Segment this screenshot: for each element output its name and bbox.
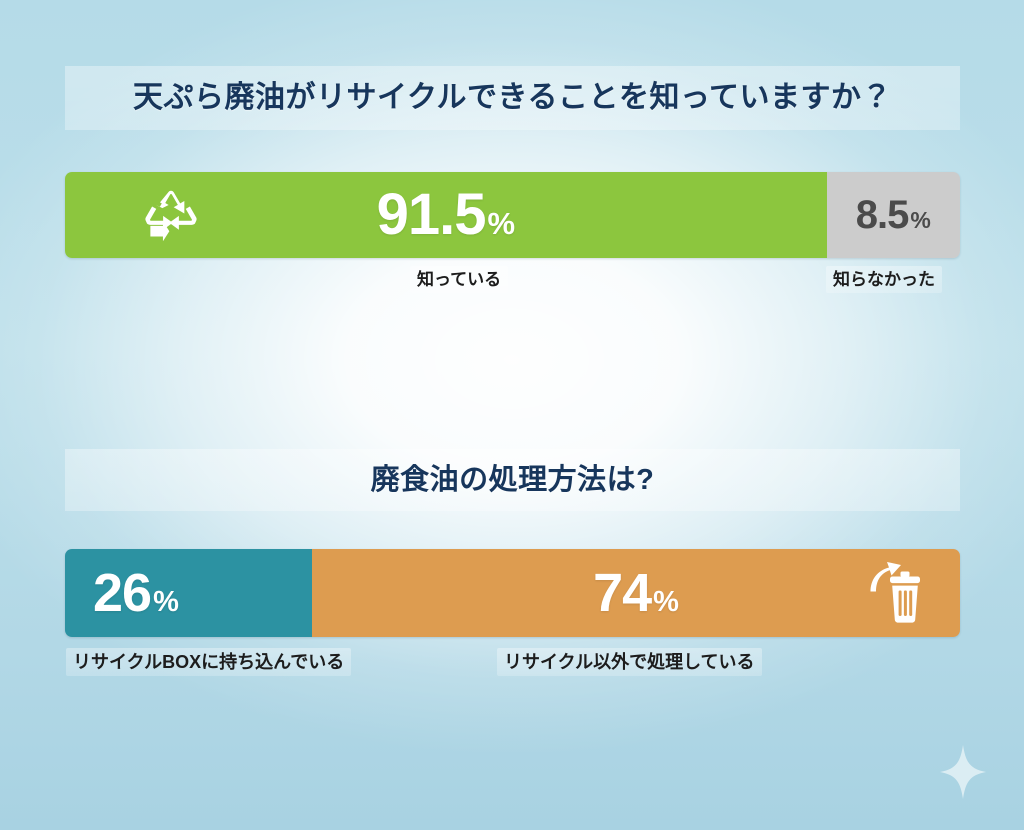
chart-2-stacked-bar: 26% 74% [65, 549, 960, 637]
chart-2-caption-recyclebox: リサイクルBOXに持ち込んでいる [66, 648, 351, 676]
chart-1-value-unknown: 8.5% [856, 195, 931, 235]
chart-1-caption-unknown: 知らなかった [826, 266, 942, 293]
chart-1-segment-known[interactable]: 91.5% [65, 172, 827, 258]
chart-1-stacked-bar: 91.5% 8.5% [65, 172, 960, 258]
chart-1-caption-known: 知っている [410, 266, 508, 293]
sparkle-icon [940, 745, 986, 799]
trash-icon [864, 561, 934, 625]
chart-1-title: 天ぷら廃油がリサイクルできることを知っていますか？ [133, 83, 892, 113]
chart-1-title-band: 天ぷら廃油がリサイクルできることを知っていますか？ [65, 66, 960, 130]
chart-2-value-other: 74% [593, 566, 679, 620]
chart-2-segment-other[interactable]: 74% [312, 549, 960, 637]
infographic-canvas: 天ぷら廃油がリサイクルできることを知っていますか？ 91.5% [0, 0, 1024, 830]
chart-2-segment-recyclebox[interactable]: 26% [65, 549, 312, 637]
recycle-icon [143, 189, 199, 241]
chart-1-value-known: 91.5% [377, 186, 515, 244]
chart-2-title-band: 廃食油の処理方法は? [65, 449, 960, 511]
chart-2-title: 廃食油の処理方法は? [371, 466, 655, 495]
chart-2-value-recyclebox: 26% [93, 566, 179, 620]
chart-1-segment-unknown[interactable]: 8.5% [827, 172, 960, 258]
chart-2-caption-other: リサイクル以外で処理している [497, 648, 762, 676]
